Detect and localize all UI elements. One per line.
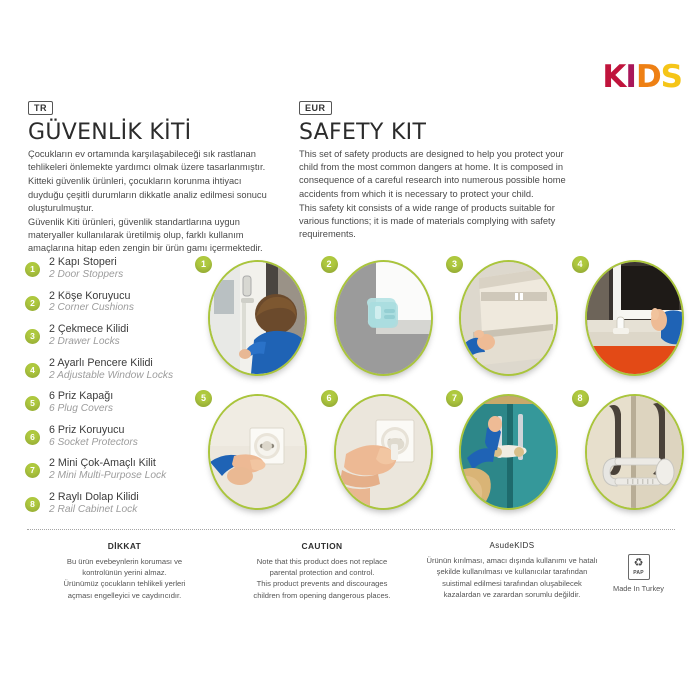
intro-body-eur: This set of safety products are designed… [299, 148, 574, 241]
photo-number-badge: 7 [446, 390, 463, 407]
contents-list: 1 2 Kapı Stoperi 2 Door Stoppers 2 2 Köş… [25, 256, 210, 525]
photo-cell: 3 [446, 256, 555, 378]
photo-multi-purpose-lock [459, 394, 558, 510]
list-item: 3 2 Çekmece Kilidi 2 Drawer Locks [25, 323, 210, 348]
photo-child-door-stopper [208, 260, 307, 376]
intro-tr-para-3: Güvenlik Kiti ürünleri, güvenlik standar… [28, 216, 275, 256]
item-number-badge: 1 [25, 262, 40, 277]
rail-cabinet-lock-illustration [587, 396, 682, 508]
footer-caution-line-2: parental protection and control. [222, 567, 422, 578]
recycling-pap-icon: ♻ PAP [628, 554, 650, 580]
footer-heading-caution: CAUTION [222, 540, 422, 553]
item-label-tr: 2 Raylı Dolap Kilidi [49, 491, 210, 504]
logo-letter-k: K [602, 62, 625, 93]
photo-number-badge: 3 [446, 256, 463, 273]
item-number-badge: 7 [25, 463, 40, 478]
footer-asude-line-3: suistimal edilmesi tarafından oluşabilec… [422, 578, 602, 589]
plug-cover-illustration [210, 396, 305, 508]
logo-letter-d: D [636, 62, 661, 93]
list-item: 1 2 Kapı Stoperi 2 Door Stoppers [25, 256, 210, 281]
intro-body-tr: Çocukların ev ortamında karşılaşabileceğ… [28, 148, 275, 256]
photo-row-top: 1 [195, 256, 680, 378]
footer-column-caution: CAUTION Note that this product does not … [222, 540, 422, 601]
intro-section: TR GÜVENLİK KİTİ Çocukların ev ortamında… [28, 98, 673, 257]
footer-heading-asude: AsudeKIDS [422, 540, 602, 552]
item-number-badge: 6 [25, 430, 40, 445]
photo-number-badge: 5 [195, 390, 212, 407]
language-badge-tr: TR [28, 101, 53, 115]
page-title-tr: GÜVENLİK KİTİ [28, 120, 275, 145]
footer-asude-line-2: şekilde kullanılması ve kullanıcılar tar… [422, 566, 602, 577]
intro-column-eur: EUR SAFETY KIT This set of safety produc… [299, 98, 574, 257]
footer-section: DİKKAT Bu ürün evebeynlerin koruması ve … [27, 540, 675, 601]
photo-cell: 4 [572, 256, 681, 378]
photo-window-lock [585, 260, 684, 376]
corner-cushion-illustration [336, 262, 431, 374]
logo-letter-i: I [625, 62, 636, 93]
footer-column-dikkat: DİKKAT Bu ürün evebeynlerin koruması ve … [27, 540, 222, 601]
item-label-en: 6 Plug Covers [49, 403, 210, 415]
photo-row-bottom: 5 [195, 390, 680, 512]
photo-rail-cabinet-lock [585, 394, 684, 510]
photo-number-badge: 1 [195, 256, 212, 273]
item-label-tr: 6 Priz Kapağı [49, 390, 210, 403]
photo-plug-cover [208, 394, 307, 510]
item-label-tr: 6 Priz Koruyucu [49, 424, 210, 437]
photo-number-badge: 2 [321, 256, 338, 273]
item-label-en: 2 Adjustable Window Locks [49, 370, 210, 382]
photo-cell: 5 [195, 390, 304, 512]
footer-column-asude: AsudeKIDS Ürünün kırılması, amacı dışınd… [422, 540, 602, 601]
photo-cell: 2 [321, 256, 430, 378]
intro-eur-para-2: This safety kit consists of a wide range… [299, 202, 574, 242]
kids-brand-logo: KIDS [602, 62, 682, 93]
recycle-arrows-glyph: ♻ [634, 558, 644, 569]
item-label-tr: 2 Mini Çok-Amaçlı Kilit [49, 457, 210, 470]
intro-tr-para-2: Kitteki güvenlik ürünleri, çocukların ko… [28, 175, 275, 215]
intro-column-tr: TR GÜVENLİK KİTİ Çocukların ev ortamında… [28, 98, 275, 257]
footer-column-marks: ♻ PAP Made In Turkey [602, 540, 675, 593]
footer-caution-line-1: Note that this product does not replace [222, 556, 422, 567]
photo-cell: 8 [572, 390, 681, 512]
item-number-badge: 3 [25, 329, 40, 344]
photo-cell: 6 [321, 390, 430, 512]
intro-tr-para-1: Çocukların ev ortamında karşılaşabileceğ… [28, 148, 275, 174]
footer-caution-line-4: children from opening dangerous places. [222, 590, 422, 601]
language-badge-eur: EUR [299, 101, 332, 115]
photo-corner-cushion [334, 260, 433, 376]
door-stopper-illustration [210, 262, 305, 374]
list-item: 5 6 Priz Kapağı 6 Plug Covers [25, 390, 210, 415]
intro-eur-para-1: This set of safety products are designed… [299, 148, 574, 201]
window-lock-illustration [587, 262, 682, 374]
list-item: 7 2 Mini Çok-Amaçlı Kilit 2 Mini Multi-P… [25, 457, 210, 482]
photo-cell: 1 [195, 256, 304, 378]
footer-asude-line-4: kazalardan ve zarardan sorumlu değildir. [422, 589, 602, 600]
footer-caution-line-3: This product prevents and discourages [222, 578, 422, 589]
photo-socket-protector [334, 394, 433, 510]
list-item: 4 2 Ayarlı Pencere Kilidi 2 Adjustable W… [25, 357, 210, 382]
footer-dikkat-line-4: açması engelleyici ve caydırıcıdır. [27, 590, 222, 601]
footer-dikkat-line-3: Ürünümüz çocukların tehlikeli yerleri [27, 578, 222, 589]
photo-cell: 7 [446, 390, 555, 512]
footer-heading-dikkat: DİKKAT [27, 540, 222, 553]
item-label-tr: 2 Köşe Koruyucu [49, 290, 210, 303]
list-item: 8 2 Raylı Dolap Kilidi 2 Rail Cabinet Lo… [25, 491, 210, 516]
product-packaging-page: KIDS TR GÜVENLİK KİTİ Çocukların ev orta… [0, 0, 700, 700]
recycle-label: PAP [633, 570, 644, 576]
item-label-en: 2 Rail Cabinet Lock [49, 504, 210, 516]
item-label-tr: 2 Çekmece Kilidi [49, 323, 210, 336]
item-number-badge: 2 [25, 296, 40, 311]
item-label-en: 2 Corner Cushions [49, 302, 210, 314]
photo-drawer-lock [459, 260, 558, 376]
item-number-badge: 5 [25, 396, 40, 411]
item-label-en: 2 Mini Multi-Purpose Lock [49, 470, 210, 482]
footer-asude-line-1: Ürünün kırılması, amacı dışında kullanım… [422, 555, 602, 566]
page-title-eur: SAFETY KIT [299, 120, 574, 145]
multi-purpose-lock-illustration [461, 396, 556, 508]
item-label-tr: 2 Kapı Stoperi [49, 256, 210, 269]
item-number-badge: 8 [25, 497, 40, 512]
made-in-text: Made In Turkey [613, 584, 664, 593]
list-item: 2 2 Köşe Koruyucu 2 Corner Cushions [25, 290, 210, 315]
item-label-tr: 2 Ayarlı Pencere Kilidi [49, 357, 210, 370]
footer-divider [27, 529, 675, 530]
footer-dikkat-line-2: kontrolünün yerini almaz. [27, 567, 222, 578]
drawer-lock-illustration [461, 262, 556, 374]
photo-number-badge: 4 [572, 256, 589, 273]
logo-letter-s: S [661, 62, 682, 93]
item-label-en: 2 Door Stoppers [49, 269, 210, 281]
photo-number-badge: 6 [321, 390, 338, 407]
socket-protector-illustration [336, 396, 431, 508]
photo-number-badge: 8 [572, 390, 589, 407]
item-label-en: 2 Drawer Locks [49, 336, 210, 348]
list-item: 6 6 Priz Koruyucu 6 Socket Protectors [25, 424, 210, 449]
item-number-badge: 4 [25, 363, 40, 378]
footer-dikkat-line-1: Bu ürün evebeynlerin koruması ve [27, 556, 222, 567]
product-photo-grid: 1 [195, 256, 680, 524]
item-label-en: 6 Socket Protectors [49, 437, 210, 449]
